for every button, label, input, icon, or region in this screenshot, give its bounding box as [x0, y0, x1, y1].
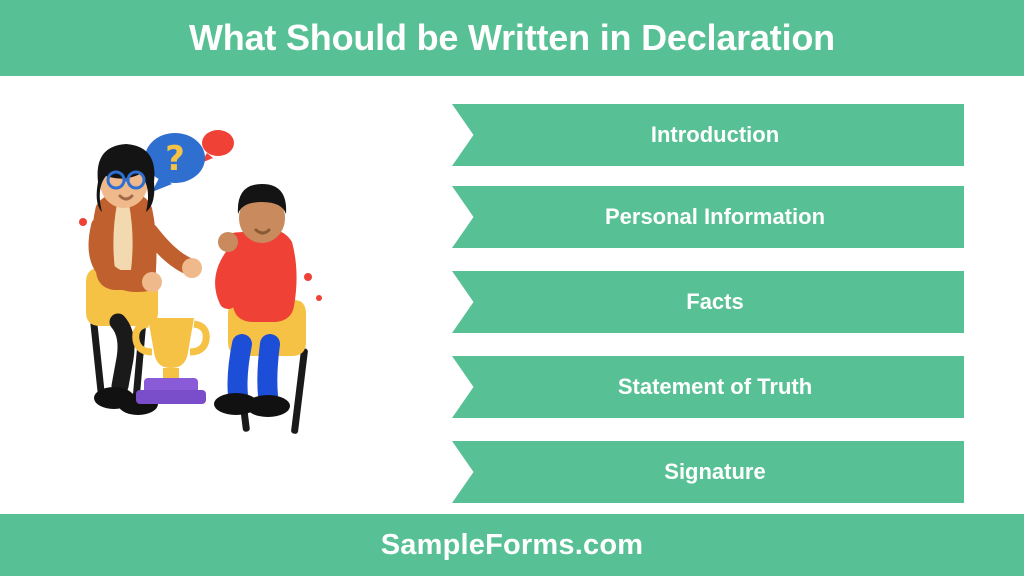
- arrow-item-label: Statement of Truth: [604, 374, 812, 400]
- arrow-list: Introduction Personal Information Facts …: [452, 104, 964, 496]
- arrow-item-label: Personal Information: [591, 204, 825, 230]
- arrow-item-label: Signature: [650, 459, 765, 485]
- header-bar: What Should be Written in Declaration: [0, 0, 1024, 76]
- arrow-item-personal-information[interactable]: Personal Information: [452, 186, 964, 248]
- brand-label: SampleForms.com: [381, 529, 643, 562]
- infographic-root: What Should be Written in Declaration: [0, 0, 1024, 576]
- small-speech-bubble-icon: [201, 130, 234, 163]
- man-figure: [214, 184, 308, 434]
- arrow-item-label: Facts: [672, 289, 743, 315]
- page-title: What Should be Written in Declaration: [189, 17, 835, 59]
- arrow-item-signature[interactable]: Signature: [452, 441, 964, 503]
- woman-figure: [86, 144, 202, 415]
- footer-bar: SampleForms.com: [0, 514, 1024, 576]
- illustration: ?: [70, 86, 430, 486]
- arrow-item-introduction[interactable]: Introduction: [452, 104, 964, 166]
- arrow-item-facts[interactable]: Facts: [452, 271, 964, 333]
- svg-text:?: ?: [165, 139, 185, 179]
- arrow-item-label: Introduction: [637, 122, 779, 148]
- two-people-conversation-illustration: ?: [70, 86, 430, 486]
- body-area: ?: [0, 76, 1024, 514]
- trophy-icon: [136, 318, 207, 404]
- arrow-item-statement-of-truth[interactable]: Statement of Truth: [452, 356, 964, 418]
